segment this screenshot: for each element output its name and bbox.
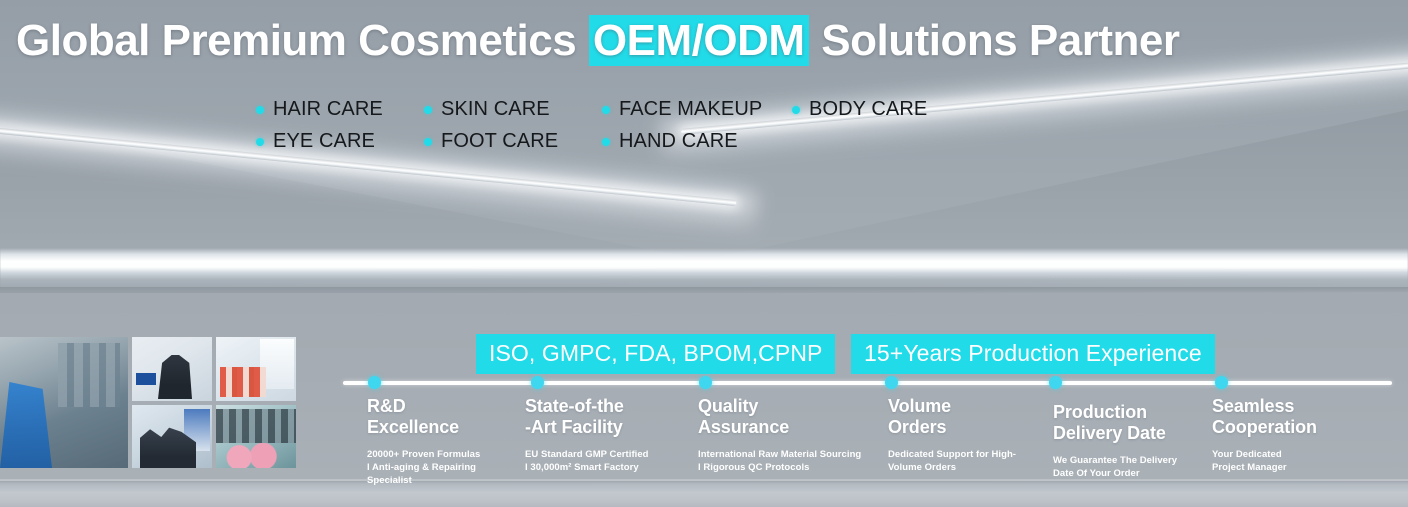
gallery-image-product-display-consultation (132, 405, 212, 468)
timeline-item-subtitle: Dedicated Support for High- Volume Order… (888, 448, 1043, 474)
bullet-dot-icon (424, 106, 432, 114)
bullet-dot-icon (792, 106, 800, 114)
timeline-dot-5 (1049, 376, 1062, 389)
timeline-dot-2 (531, 376, 544, 389)
timeline-dot-4 (885, 376, 898, 389)
category-item-face-makeup[interactable]: FACE MAKEUP (602, 98, 792, 121)
badge-experience: 15+Years Production Experience (851, 334, 1215, 374)
category-label: BODY CARE (809, 98, 927, 121)
category-label: FACE MAKEUP (619, 98, 762, 121)
floor-baseboard (0, 479, 1408, 507)
headline-part-1: Global Premium Cosmetics (16, 16, 588, 65)
gallery-image-showroom-meeting-clients (132, 337, 212, 401)
category-row-2: EYE CARE FOOT CARE HAND CARE (256, 130, 952, 162)
category-label: FOOT CARE (441, 130, 558, 153)
category-label: HAND CARE (619, 130, 738, 153)
photo-gallery (0, 337, 312, 468)
timeline-item-subtitle: International Raw Material Sourcing l Ri… (698, 448, 883, 474)
badge-certifications: ISO, GMPC, FDA, BPOM,CPNP (476, 334, 835, 374)
timeline-item-title: Seamless Cooperation (1212, 396, 1372, 439)
page-title: Global Premium Cosmetics OEM/ODM Solutio… (16, 18, 1179, 64)
category-item-hair-care[interactable]: HAIR CARE (256, 98, 424, 121)
timeline-dot-6 (1215, 376, 1228, 389)
timeline-item-subtitle: EU Standard GMP Certified l 30,000m² Sma… (525, 448, 685, 474)
timeline-item-title: Volume Orders (888, 396, 1043, 439)
timeline-dot-3 (699, 376, 712, 389)
timeline-item-production-delivery-date: Production Delivery Date We Guarantee Th… (1053, 402, 1213, 480)
timeline-item-seamless-cooperation: Seamless Cooperation Your Dedicated Proj… (1212, 396, 1372, 474)
headline-part-2: Solutions Partner (810, 16, 1180, 65)
timeline-item-title: Quality Assurance (698, 396, 883, 439)
timeline-track (343, 381, 1392, 385)
category-item-skin-care[interactable]: SKIN CARE (424, 98, 602, 121)
category-row-1: HAIR CARE SKIN CARE FACE MAKEUP BODY CAR… (256, 98, 952, 130)
timeline-item-state-of-the-art-facility: State-of-the -Art Facility EU Standard G… (525, 396, 685, 474)
category-item-foot-care[interactable]: FOOT CARE (424, 130, 602, 153)
timeline-item-quality-assurance: Quality Assurance International Raw Mate… (698, 396, 883, 474)
bullet-dot-icon (602, 138, 610, 146)
timeline-item-volume-orders: Volume Orders Dedicated Support for High… (888, 396, 1043, 474)
timeline-item-title: Production Delivery Date (1053, 402, 1213, 445)
category-label: EYE CARE (273, 130, 375, 153)
timeline-item-subtitle: 20000+ Proven Formulas l Anti-aging & Re… (367, 448, 517, 487)
category-list: HAIR CARE SKIN CARE FACE MAKEUP BODY CAR… (256, 98, 952, 162)
category-label: HAIR CARE (273, 98, 383, 121)
timeline-item-rd-excellence: R&D Excellence 20000+ Proven Formulas l … (367, 396, 517, 487)
timeline-item-subtitle: Your Dedicated Project Manager (1212, 448, 1372, 474)
category-item-hand-care[interactable]: HAND CARE (602, 130, 792, 153)
gallery-image-factory-tanks-worker (0, 337, 128, 468)
category-item-body-care[interactable]: BODY CARE (792, 98, 952, 121)
promotional-banner: Global Premium Cosmetics OEM/ODM Solutio… (0, 0, 1408, 507)
category-item-eye-care[interactable]: EYE CARE (256, 130, 424, 153)
timeline-item-title: R&D Excellence (367, 396, 517, 439)
bullet-dot-icon (256, 138, 264, 146)
gallery-image-filling-line-machinery (216, 405, 296, 468)
bullet-dot-icon (256, 106, 264, 114)
bullet-dot-icon (424, 138, 432, 146)
gallery-image-grid (132, 337, 296, 468)
bullet-dot-icon (602, 106, 610, 114)
gallery-image-lab-technician-formulation (216, 337, 296, 401)
timeline-dot-1 (368, 376, 381, 389)
ceiling-cornice-band (0, 248, 1408, 292)
category-label: SKIN CARE (441, 98, 550, 121)
headline-highlight-oem-odm: OEM/ODM (589, 15, 809, 66)
timeline-item-subtitle: We Guarantee The Delivery Date Of Your O… (1053, 454, 1213, 480)
timeline-item-title: State-of-the -Art Facility (525, 396, 685, 439)
